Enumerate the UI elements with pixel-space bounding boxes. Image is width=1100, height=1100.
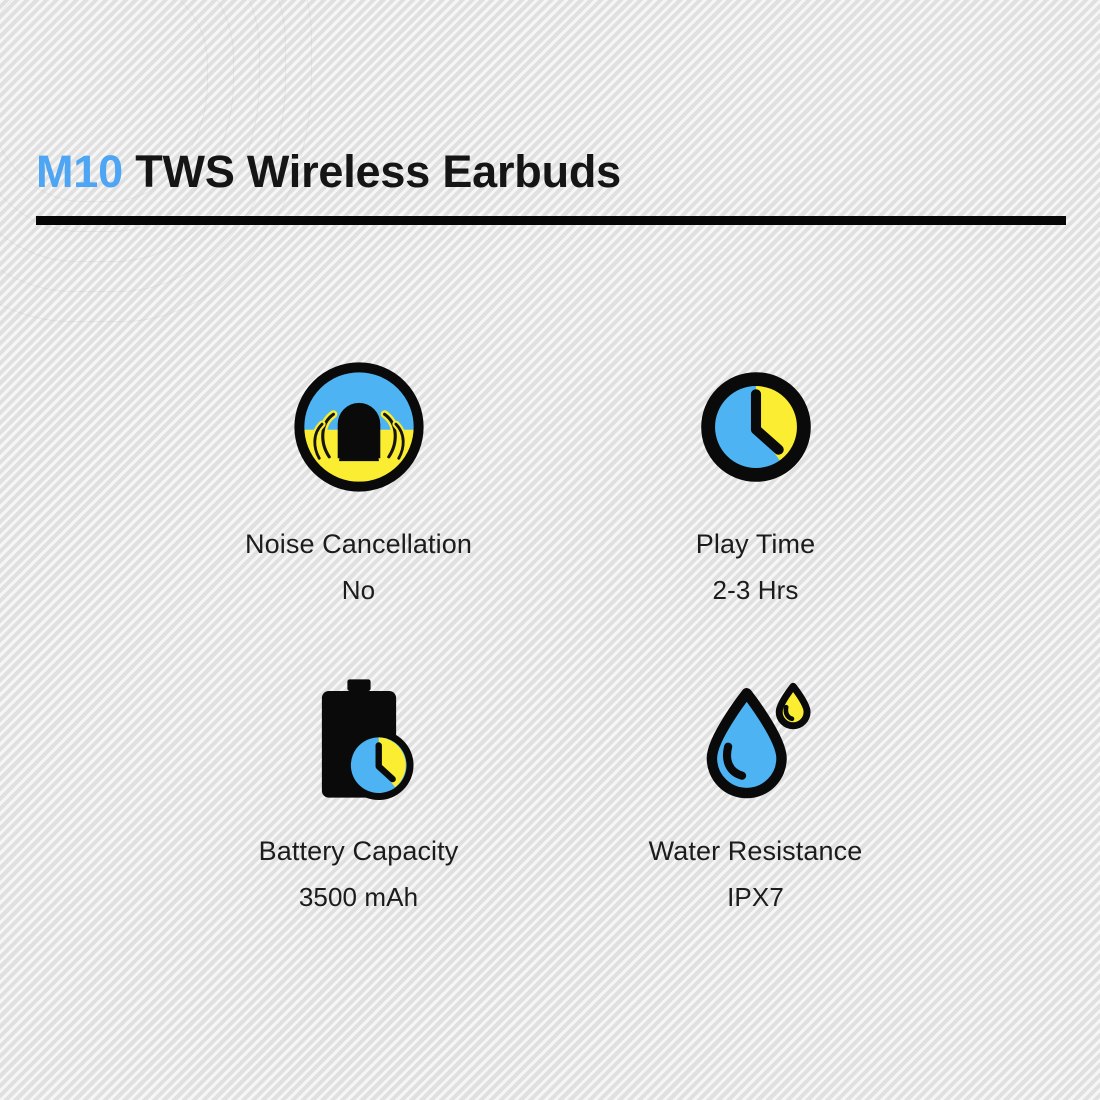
- spec-value: IPX7: [727, 882, 784, 913]
- spec-sheet: M10 TWS Wireless Earbuds: [0, 0, 1100, 1100]
- water-resistance-droplet-icon: [695, 672, 817, 812]
- battery-capacity-icon: [301, 672, 417, 812]
- spec-label: Battery Capacity: [259, 836, 459, 867]
- spec-item-noise-cancellation: Noise Cancellation No: [160, 352, 557, 672]
- product-name: TWS Wireless Earbuds: [123, 146, 621, 197]
- header: M10 TWS Wireless Earbuds: [36, 148, 1066, 225]
- noise-cancellation-icon: [288, 352, 430, 502]
- spec-item-battery-capacity: Battery Capacity 3500 mAh: [160, 672, 557, 913]
- model-name: M10: [36, 146, 123, 197]
- spec-item-water-resistance: Water Resistance IPX7: [557, 672, 954, 913]
- page-title: M10 TWS Wireless Earbuds: [36, 148, 1066, 196]
- spec-value: 2-3 Hrs: [713, 575, 799, 606]
- title-divider: [36, 216, 1066, 225]
- spec-value: No: [342, 575, 375, 606]
- spec-label: Water Resistance: [649, 836, 863, 867]
- spec-value: 3500 mAh: [299, 882, 418, 913]
- play-time-clock-icon: [693, 352, 819, 502]
- spec-label: Noise Cancellation: [245, 529, 472, 560]
- specs-grid: Noise Cancellation No Play Time 2-3 Hrs: [160, 352, 960, 913]
- spec-label: Play Time: [696, 529, 815, 560]
- spec-item-play-time: Play Time 2-3 Hrs: [557, 352, 954, 672]
